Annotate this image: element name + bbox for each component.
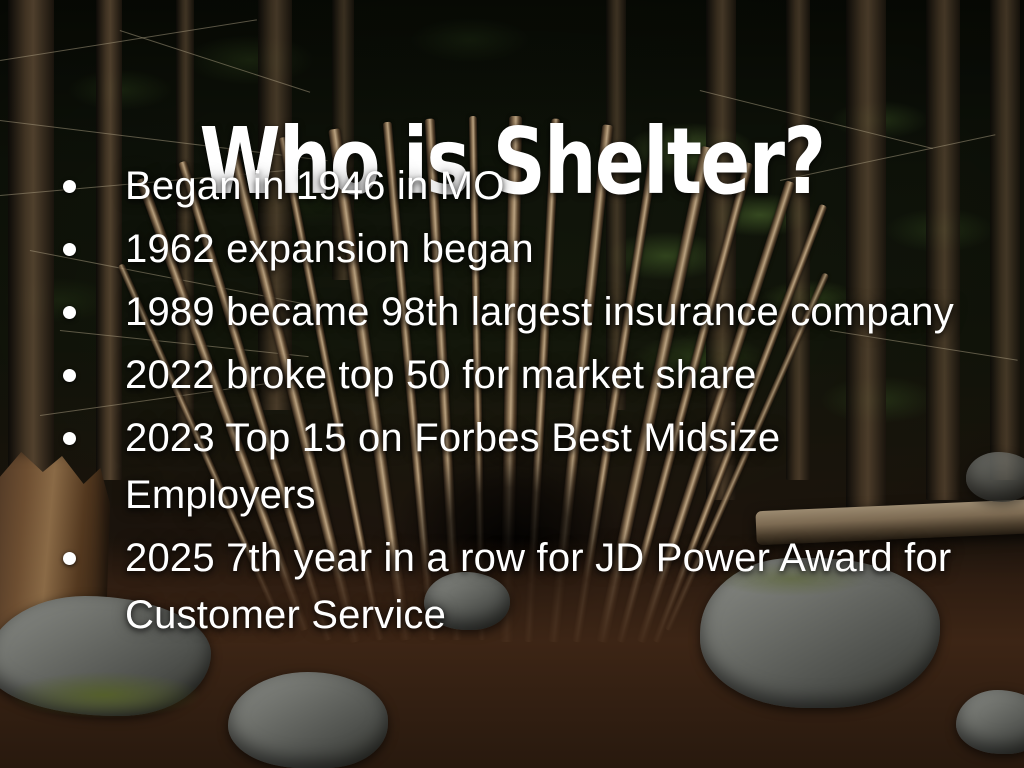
list-item: 2022 broke top 50 for market share: [50, 347, 970, 404]
bullet-list: Began in 1946 in MO 1962 expansion began…: [50, 158, 970, 650]
list-item-label: 1989 became 98th largest insurance compa…: [125, 290, 954, 334]
bullet-dot-icon: [63, 180, 76, 193]
list-item-label: 2023 Top 15 on Forbes Best Midsize Emplo…: [125, 416, 780, 517]
list-item: 1962 expansion began: [50, 221, 970, 278]
bullet-dot-icon: [63, 369, 76, 382]
bullet-dot-icon: [63, 306, 76, 319]
list-item-label: 2022 broke top 50 for market share: [125, 353, 757, 397]
list-item-label: 1962 expansion began: [125, 227, 534, 271]
list-item-label: 2025 7th year in a row for JD Power Awar…: [125, 536, 951, 637]
list-item-label: Began in 1946 in MO: [125, 164, 505, 208]
bullet-dot-icon: [63, 552, 76, 565]
list-item: 2023 Top 15 on Forbes Best Midsize Emplo…: [50, 410, 970, 524]
bullet-dot-icon: [63, 432, 76, 445]
bullet-dot-icon: [63, 243, 76, 256]
list-item: 2025 7th year in a row for JD Power Awar…: [50, 530, 970, 644]
list-item: Began in 1946 in MO: [50, 158, 970, 215]
list-item: 1989 became 98th largest insurance compa…: [50, 284, 970, 341]
presentation-slide: Who is Shelter? Began in 1946 in MO 1962…: [0, 0, 1024, 768]
slide-content: Who is Shelter? Began in 1946 in MO 1962…: [0, 0, 1024, 768]
